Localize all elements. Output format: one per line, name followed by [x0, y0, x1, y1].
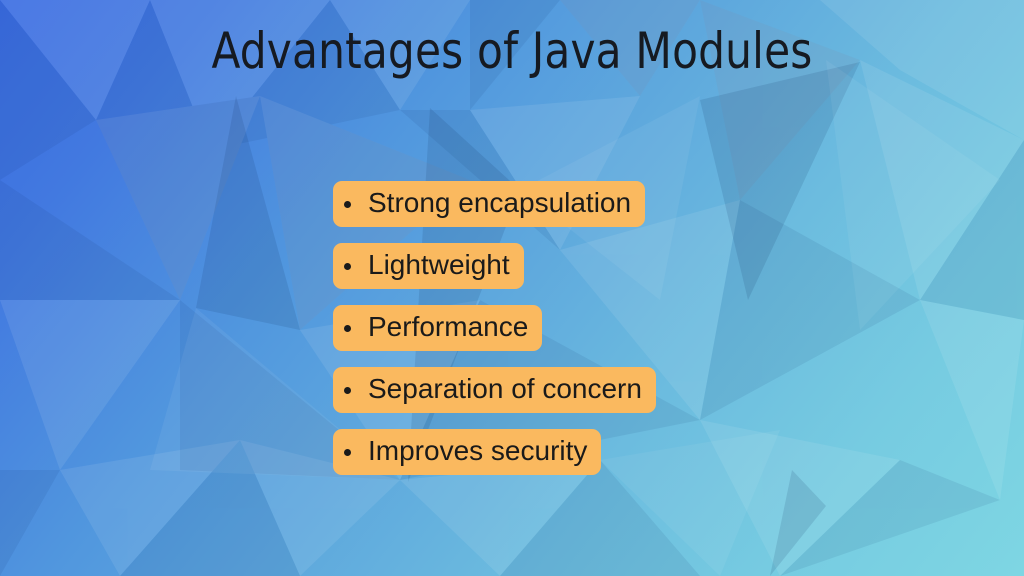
- bullet-item-label: Lightweight: [368, 250, 510, 280]
- bullet-dot-icon: [344, 325, 351, 332]
- slide-title: Advantages of Java Modules: [31, 22, 994, 80]
- bullet-dot-icon: [344, 387, 351, 394]
- bullet-item-label: Strong encapsulation: [368, 188, 631, 218]
- bullet-item-lightweight[interactable]: Lightweight: [333, 243, 524, 289]
- presentation-slide: Advantages of Java Modules Strong encaps…: [0, 0, 1024, 576]
- bullet-dot-icon: [344, 263, 351, 270]
- bullet-list: Strong encapsulation Lightweight Perform…: [333, 181, 656, 475]
- bullet-item-performance[interactable]: Performance: [333, 305, 542, 351]
- bullet-dot-icon: [344, 201, 351, 208]
- bullet-item-separation-of-concern[interactable]: Separation of concern: [333, 367, 656, 413]
- bullet-item-label: Separation of concern: [368, 374, 642, 404]
- bullet-item-strong-encapsulation[interactable]: Strong encapsulation: [333, 181, 645, 227]
- bullet-item-improves-security[interactable]: Improves security: [333, 429, 601, 475]
- bullet-dot-icon: [344, 449, 351, 456]
- bullet-item-label: Performance: [368, 312, 528, 342]
- bullet-item-label: Improves security: [368, 436, 587, 466]
